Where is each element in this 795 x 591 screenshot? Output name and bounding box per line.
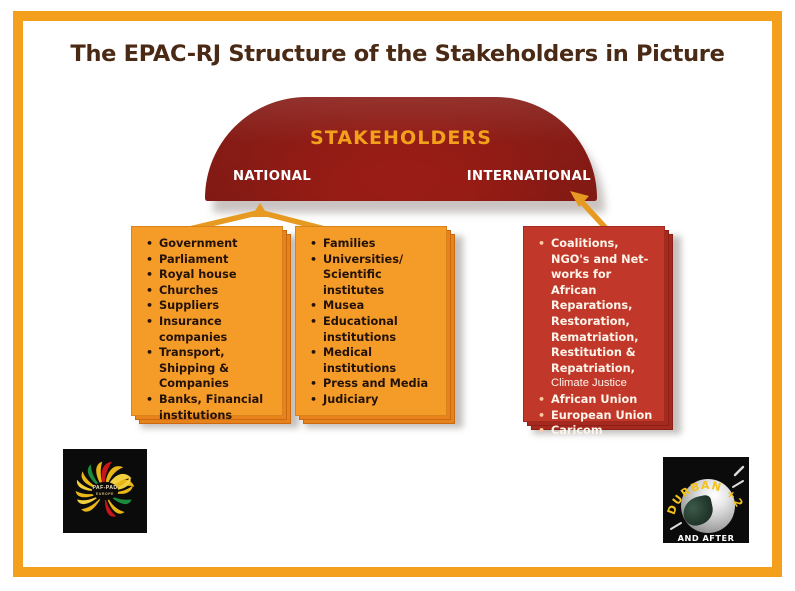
card-national-1[interactable]: GovernmentParliamentRoyal houseChurchesS… bbox=[131, 226, 299, 426]
card-sheet-front: FamiliesUniversities/ Scientific institu… bbox=[295, 226, 447, 416]
card-list-item: Families bbox=[309, 236, 438, 252]
card-list-item: Climate Justice bbox=[537, 376, 656, 392]
card-list-item: Insurance companies bbox=[145, 314, 274, 345]
pafpad-logo-text: PAF-PAD EUROPE bbox=[92, 485, 117, 497]
card-body: FamiliesUniversities/ Scientific institu… bbox=[309, 236, 438, 408]
page-title: The EPAC-RJ Structure of the Stakeholder… bbox=[23, 41, 772, 67]
durban-bottom-label: AND AFTER bbox=[663, 533, 749, 543]
card-list-item: Educational institutions bbox=[309, 314, 438, 345]
card-list-item: Coalitions, NGO's and Net-works for Afri… bbox=[537, 236, 656, 376]
card-body: Coalitions, NGO's and Net-works for Afri… bbox=[537, 236, 656, 439]
card-list-item: Press and Media bbox=[309, 376, 438, 392]
card-item-list: GovernmentParliamentRoyal houseChurchesS… bbox=[145, 236, 274, 423]
card-list-item: Musea bbox=[309, 298, 438, 314]
card-item-list: FamiliesUniversities/ Scientific institu… bbox=[309, 236, 438, 408]
durban-logo: DURBAN +24 AND AFTER bbox=[663, 457, 749, 543]
card-list-item: Medical institutions bbox=[309, 345, 438, 376]
card-list-item: Suppliers bbox=[145, 298, 274, 314]
card-national-2[interactable]: FamiliesUniversities/ Scientific institu… bbox=[295, 226, 470, 426]
slide-canvas: The EPAC-RJ Structure of the Stakeholder… bbox=[0, 0, 795, 591]
card-body: GovernmentParliamentRoyal houseChurchesS… bbox=[145, 236, 274, 423]
card-list-item: European Union bbox=[537, 408, 656, 424]
card-item-list: Coalitions, NGO's and Net-works for Afri… bbox=[537, 236, 656, 439]
dome-gloss bbox=[205, 97, 597, 201]
pafpad-logo-sub: EUROPE bbox=[92, 491, 117, 497]
card-list-item: African Union bbox=[537, 392, 656, 408]
dome-shape bbox=[205, 97, 597, 201]
national-label: NATIONAL bbox=[233, 169, 311, 184]
card-list-item: Banks, Financial institutions bbox=[145, 392, 274, 423]
pafpad-logo: PAF-PAD EUROPE bbox=[63, 449, 147, 533]
stakeholders-label: STAKEHOLDERS bbox=[205, 127, 597, 149]
durban-arc-text: DURBAN +24 bbox=[663, 457, 749, 543]
card-sheet-front: GovernmentParliamentRoyal houseChurchesS… bbox=[131, 226, 283, 416]
card-list-item: Churches bbox=[145, 283, 274, 299]
international-label: INTERNATIONAL bbox=[467, 169, 591, 184]
card-list-item: Universities/ Scientific institutes bbox=[309, 252, 438, 299]
card-list-item: Judiciary bbox=[309, 392, 438, 408]
slide-content-area: The EPAC-RJ Structure of the Stakeholder… bbox=[23, 21, 772, 567]
stakeholders-dome: STAKEHOLDERS NATIONAL INTERNATIONAL bbox=[205, 97, 605, 215]
card-international[interactable]: Coalitions, NGO's and Net-works for Afri… bbox=[523, 226, 688, 431]
card-sheet-front: Coalitions, NGO's and Net-works for Afri… bbox=[523, 226, 665, 422]
card-list-item: Caricom bbox=[537, 423, 656, 439]
card-list-item: Transport, Shipping & Companies bbox=[145, 345, 274, 392]
card-list-item: Royal house bbox=[145, 267, 274, 283]
card-list-item: Government bbox=[145, 236, 274, 252]
card-list-item: Parliament bbox=[145, 252, 274, 268]
